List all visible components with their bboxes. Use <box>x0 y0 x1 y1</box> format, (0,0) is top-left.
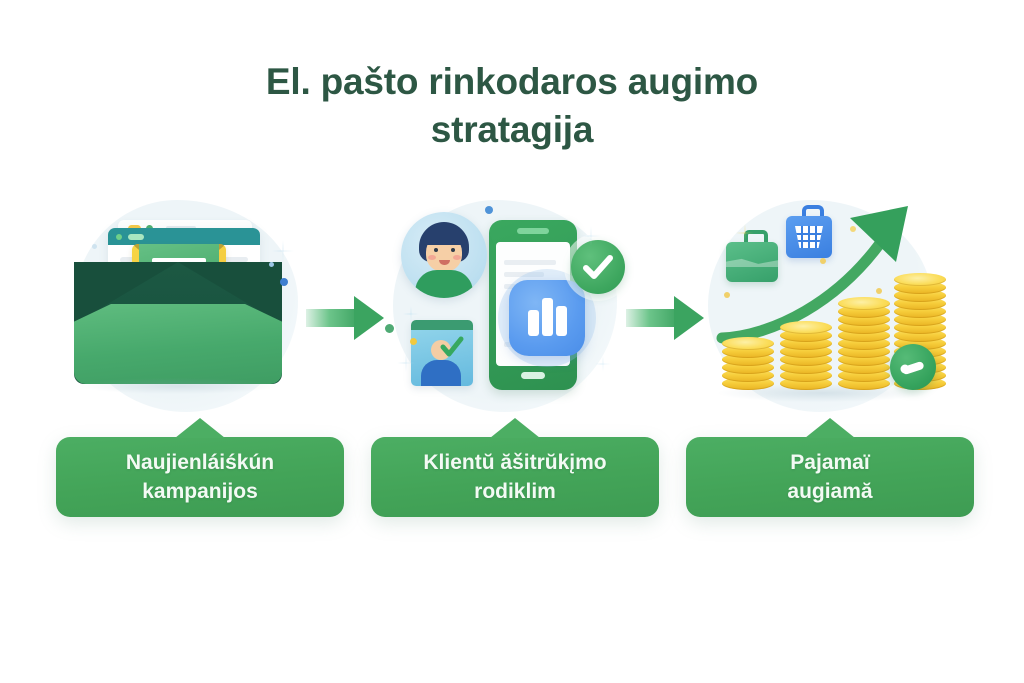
decorative-dot-light <box>269 262 274 267</box>
avatar-shirt <box>415 270 473 298</box>
decorative-dot-gold <box>820 258 826 264</box>
briefcase-band <box>726 258 778 267</box>
coin-stack-1 <box>722 337 774 390</box>
briefcase-icon <box>726 242 778 282</box>
coin-stack-3 <box>838 297 890 390</box>
step-3-label-text: Pajamaï augiamă <box>773 448 886 506</box>
chart-bar-2 <box>542 298 553 336</box>
arrow-shaft <box>626 309 678 327</box>
coin <box>838 297 890 310</box>
step-3-label-box[interactable]: Pajamaï augiamă <box>686 437 974 517</box>
phone-speaker <box>517 228 549 234</box>
label-notch <box>175 418 225 438</box>
step-1-label-text: Naujienláiśkún kampanijos <box>112 448 288 506</box>
basket-line-v1 <box>801 226 803 248</box>
step-3-illustration <box>700 196 940 424</box>
decorative-dot-gold <box>876 288 882 294</box>
avatar-hair-front <box>423 228 465 245</box>
arrow-shaft <box>306 309 358 327</box>
coin <box>780 321 832 334</box>
decorative-dot-left <box>92 244 97 249</box>
arrow-step2-to-step3 <box>626 296 704 340</box>
check-mark-icon <box>571 240 625 294</box>
decorative-dot-green <box>385 324 394 333</box>
customer-avatar <box>401 212 487 298</box>
decorative-dot-yellow <box>410 338 417 345</box>
chart-bar-1 <box>528 310 539 336</box>
decorative-dot-blue <box>280 278 288 286</box>
sparkle-icon <box>736 224 754 242</box>
label-notch <box>490 418 540 438</box>
infographic-stage: Naujienláiśkún kampanijos Klientŭ ăšitrŭ… <box>0 0 1024 683</box>
check-mark-icon <box>439 334 465 360</box>
step-2-illustration <box>385 196 625 424</box>
check-badge <box>571 240 625 294</box>
phone-line-1 <box>504 260 556 265</box>
sparkle-icon <box>403 306 419 322</box>
basket-line-v2 <box>808 226 810 248</box>
basket-line-v3 <box>815 226 817 248</box>
sparkle-icon <box>272 240 294 262</box>
sparkle-icon <box>581 226 601 246</box>
profile-card <box>411 320 473 386</box>
avatar-eye-right <box>451 248 455 252</box>
money-badge <box>890 344 936 390</box>
step-1-illustration <box>66 196 306 424</box>
coin <box>722 337 774 350</box>
basket-line-h1 <box>795 233 823 235</box>
browser-dot-1 <box>116 234 122 240</box>
sparkle-icon <box>397 354 415 372</box>
profile-card-header <box>411 320 473 330</box>
decorative-dot-blue <box>485 206 493 214</box>
arrow-step1-to-step2 <box>306 296 384 340</box>
decorative-dot-gold <box>724 292 730 298</box>
step-2-label-text: Klientŭ ăšitrŭkįmo rodiklim <box>409 448 620 506</box>
chart-bar-3 <box>556 306 567 336</box>
avatar-blush-right <box>453 255 461 260</box>
coin-icon <box>890 344 936 390</box>
step-1-label-box[interactable]: Naujienláiśkún kampanijos <box>56 437 344 517</box>
coin-stack-2 <box>780 321 832 390</box>
sparkle-icon <box>595 356 611 372</box>
profile-card-avatar-body <box>421 360 461 386</box>
envelope-shadow <box>80 378 276 394</box>
browser-address-pill <box>128 234 144 240</box>
avatar-eye-left <box>434 248 438 252</box>
basket-body <box>795 226 823 248</box>
shopping-basket-icon <box>786 216 832 258</box>
arrow-head-icon <box>354 296 384 340</box>
avatar-blush-left <box>428 255 436 260</box>
step-2-label-box[interactable]: Klientŭ ăšitrŭkįmo rodiklim <box>371 437 659 517</box>
decorative-dot-gold <box>850 226 856 232</box>
envelope-front <box>74 304 282 384</box>
phone-home-indicator <box>521 372 545 379</box>
label-notch <box>805 418 855 438</box>
browser-title-bar <box>108 228 260 245</box>
basket-line-h2 <box>795 240 823 242</box>
coin <box>894 273 946 286</box>
